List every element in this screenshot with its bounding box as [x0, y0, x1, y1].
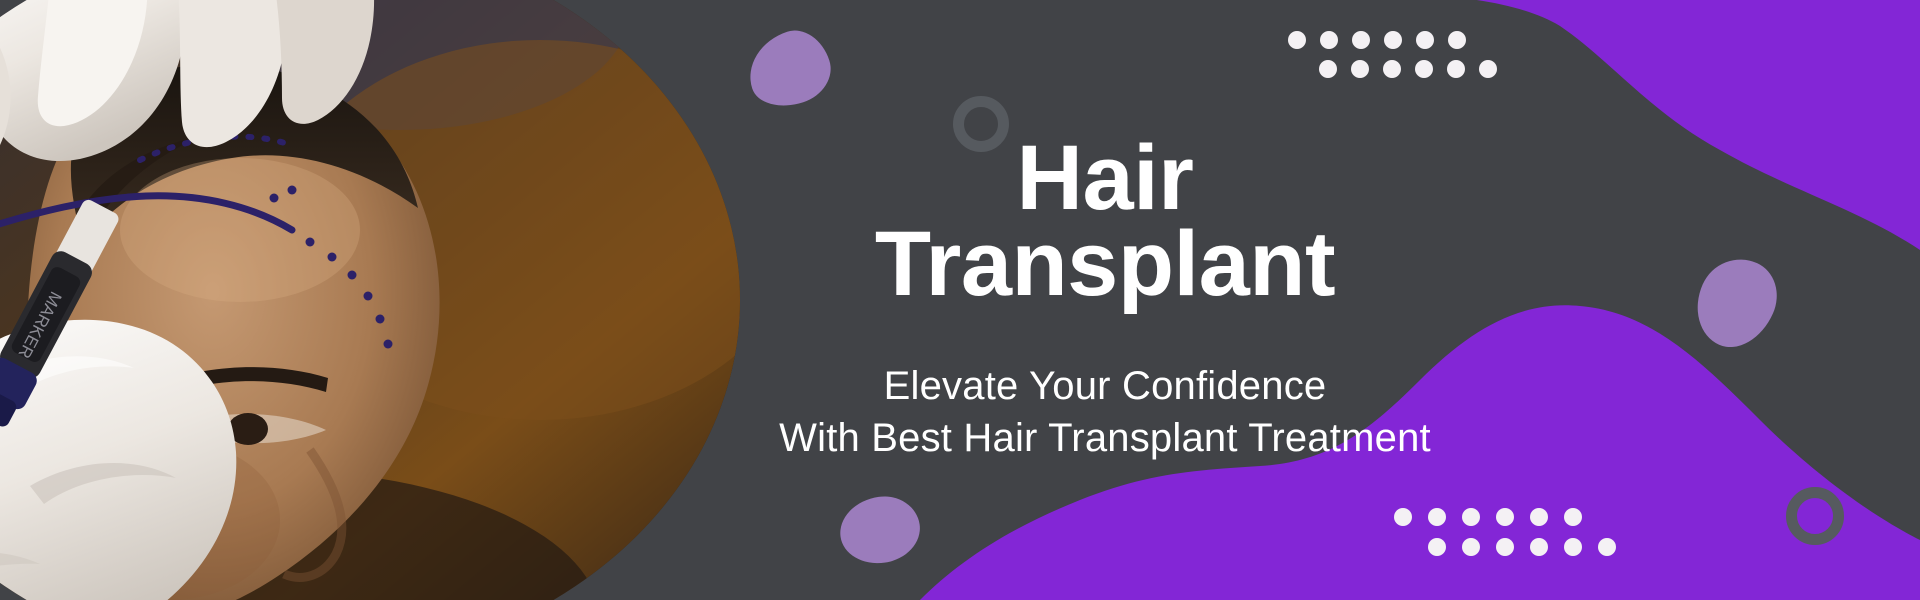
photo-circle-mask: MARKER [0, 0, 740, 600]
subhead-line-1: Elevate Your Confidence [779, 361, 1431, 412]
dot [1564, 508, 1582, 526]
dot [1530, 538, 1548, 556]
page-subtitle: Elevate Your Confidence With Best Hair T… [779, 361, 1431, 463]
dot [1564, 538, 1582, 556]
headline-line-1: Hair [875, 136, 1335, 222]
ring-outline-bottom [1786, 487, 1844, 545]
photo-panel: MARKER [0, 0, 760, 600]
hair-transplant-banner: MARKER [0, 0, 1920, 600]
hair-transplant-photo: MARKER [0, 0, 740, 600]
dot [1598, 538, 1616, 556]
dot [1530, 508, 1548, 526]
banner-text-content: Hair Transplant Elevate Your Confidence … [690, 0, 1520, 600]
headline-line-2: Transplant [875, 222, 1335, 308]
subhead-line-2: With Best Hair Transplant Treatment [779, 413, 1431, 464]
page-title: Hair Transplant [875, 136, 1335, 307]
